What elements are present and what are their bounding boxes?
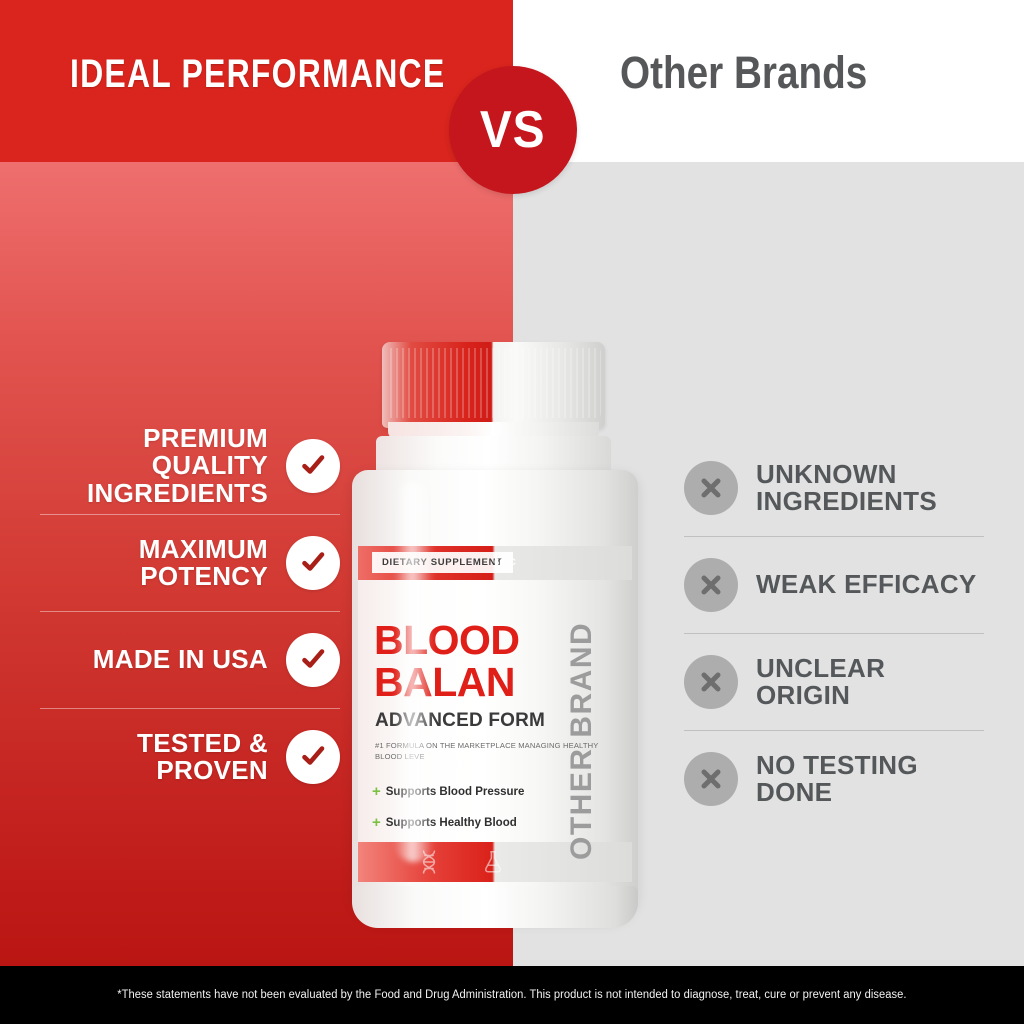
check-icon [286, 439, 340, 493]
pros-list-item: MAXIMUM POTENCY [40, 515, 340, 611]
pros-item-label: MADE IN USA [93, 646, 286, 673]
vs-label: VS [480, 100, 546, 160]
label-brand-line-1: BLOOD [374, 620, 520, 661]
cons-item-label: UNCLEAR ORIGIN [738, 655, 984, 710]
fda-disclaimer: *These statements have not been evaluate… [117, 989, 906, 1001]
cross-icon [684, 461, 738, 515]
dna-icon [416, 849, 442, 875]
plus-icon: + [372, 815, 381, 830]
benefit-text: Supports Healthy Blood [386, 817, 517, 829]
label-advanced-formula: ADVANCED FORM [375, 710, 545, 732]
label-brand-line-2: BALAN [374, 662, 515, 703]
flask-icon [480, 849, 506, 875]
pros-item-label: TESTED & PROVEN [40, 730, 286, 785]
cons-list: UNKNOWN INGREDIENTS WEAK EFFICACY UNCLEA… [684, 440, 984, 827]
check-icon [286, 633, 340, 687]
pros-list: PREMIUM QUALITY INGREDIENTS MAXIMUM POTE… [40, 418, 340, 805]
check-icon [286, 730, 340, 784]
pros-item-label: MAXIMUM POTENCY [40, 536, 286, 591]
cons-item-label: NO TESTING DONE [738, 752, 984, 807]
bottle-base [352, 886, 638, 928]
infographic-canvas: IDEAL PERFORMANCE Other Brands DIETARY S… [0, 0, 1024, 1024]
other-brand-vertical-label: OTHER BRAND [562, 560, 602, 860]
cons-list-item: WEAK EFFICACY [684, 537, 984, 633]
cons-item-label: WEAK EFFICACY [738, 571, 977, 598]
plus-icon: + [372, 784, 381, 799]
product-bottle-image: DIETARY SUPPLEMENT 60 C BLOOD BALAN ADVA… [330, 330, 660, 955]
pros-list-item: MADE IN USA [40, 612, 340, 708]
cons-item-label: UNKNOWN INGREDIENTS [738, 461, 984, 516]
check-icon [286, 536, 340, 590]
pros-item-label: PREMIUM QUALITY INGREDIENTS [40, 425, 286, 507]
cons-list-item: NO TESTING DONE [684, 731, 984, 827]
cross-icon [684, 558, 738, 612]
vs-badge: VS [449, 66, 577, 194]
cons-list-item: UNKNOWN INGREDIENTS [684, 440, 984, 536]
footer-bar: *These statements have not been evaluate… [0, 966, 1024, 1024]
pros-list-item: PREMIUM QUALITY INGREDIENTS [40, 418, 340, 514]
cross-icon [684, 752, 738, 806]
benefit-text: Supports Blood Pressure [386, 786, 525, 798]
pros-list-item: TESTED & PROVEN [40, 709, 340, 805]
bottle-cap [382, 342, 605, 428]
cap-ridges [386, 348, 601, 418]
cross-icon [684, 655, 738, 709]
page-title-ideal-performance: IDEAL PERFORMANCE [70, 46, 374, 102]
label-capsule-count: 60 C [486, 552, 524, 573]
page-title-other-brands: Other Brands [620, 44, 938, 102]
cons-list-item: UNCLEAR ORIGIN [684, 634, 984, 730]
